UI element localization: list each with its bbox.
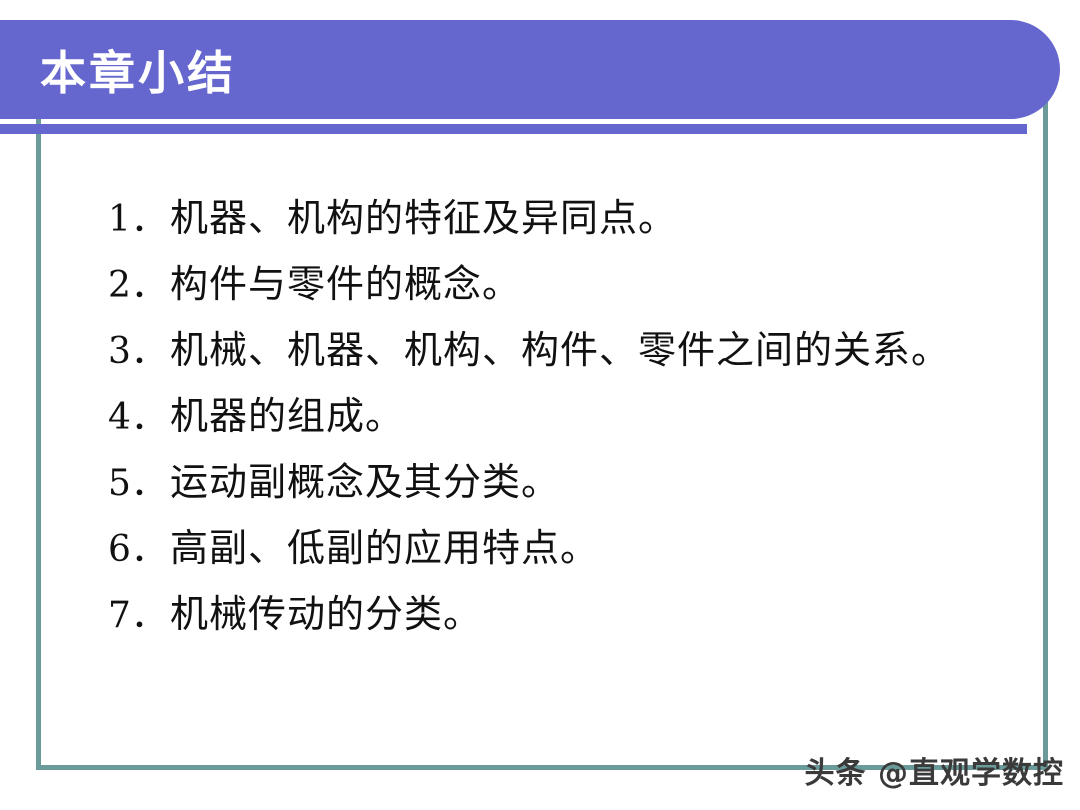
list-item: 1． 机器、机构的特征及异同点。 (108, 186, 1008, 252)
list-item-number: 6． (108, 517, 170, 582)
list-item-number: 7． (108, 583, 170, 648)
list-item: 7． 机械传动的分类。 (108, 582, 1008, 648)
list-item: 4． 机器的组成。 (108, 384, 1008, 450)
list-item-text: 机器、机构的特征及异同点。 (170, 186, 677, 251)
list-item-number: 4． (108, 385, 170, 450)
list-item-number: 5． (108, 451, 170, 516)
list-item-text: 机器的组成。 (170, 384, 404, 449)
list-item-number: 2． (108, 253, 170, 318)
list-item-text: 高副、低副的应用特点。 (170, 516, 599, 581)
page-title: 本章小结 (40, 45, 236, 101)
presentation-slide: 本章小结 1． 机器、机构的特征及异同点。 2． 构件与零件的概念。 3． 机械… (0, 0, 1080, 810)
title-banner-accent-bar (0, 124, 1027, 134)
list-item: 3． 机械、机器、机构、构件、零件之间的关系。 (108, 318, 1008, 384)
list-item-text: 构件与零件的概念。 (170, 252, 521, 317)
list-item-number: 3． (108, 319, 170, 384)
list-item-text: 机械、机器、机构、构件、零件之间的关系。 (170, 318, 950, 383)
summary-list: 1． 机器、机构的特征及异同点。 2． 构件与零件的概念。 3． 机械、机器、机… (108, 186, 1008, 648)
list-item-text: 机械传动的分类。 (170, 582, 482, 647)
list-item-number: 1． (108, 187, 170, 252)
list-item: 6． 高副、低副的应用特点。 (108, 516, 1008, 582)
list-item: 5． 运动副概念及其分类。 (108, 450, 1008, 516)
watermark-text: 头条 @直观学数控 (805, 748, 1064, 792)
list-item-text: 运动副概念及其分类。 (170, 450, 560, 515)
list-item: 2． 构件与零件的概念。 (108, 252, 1008, 318)
